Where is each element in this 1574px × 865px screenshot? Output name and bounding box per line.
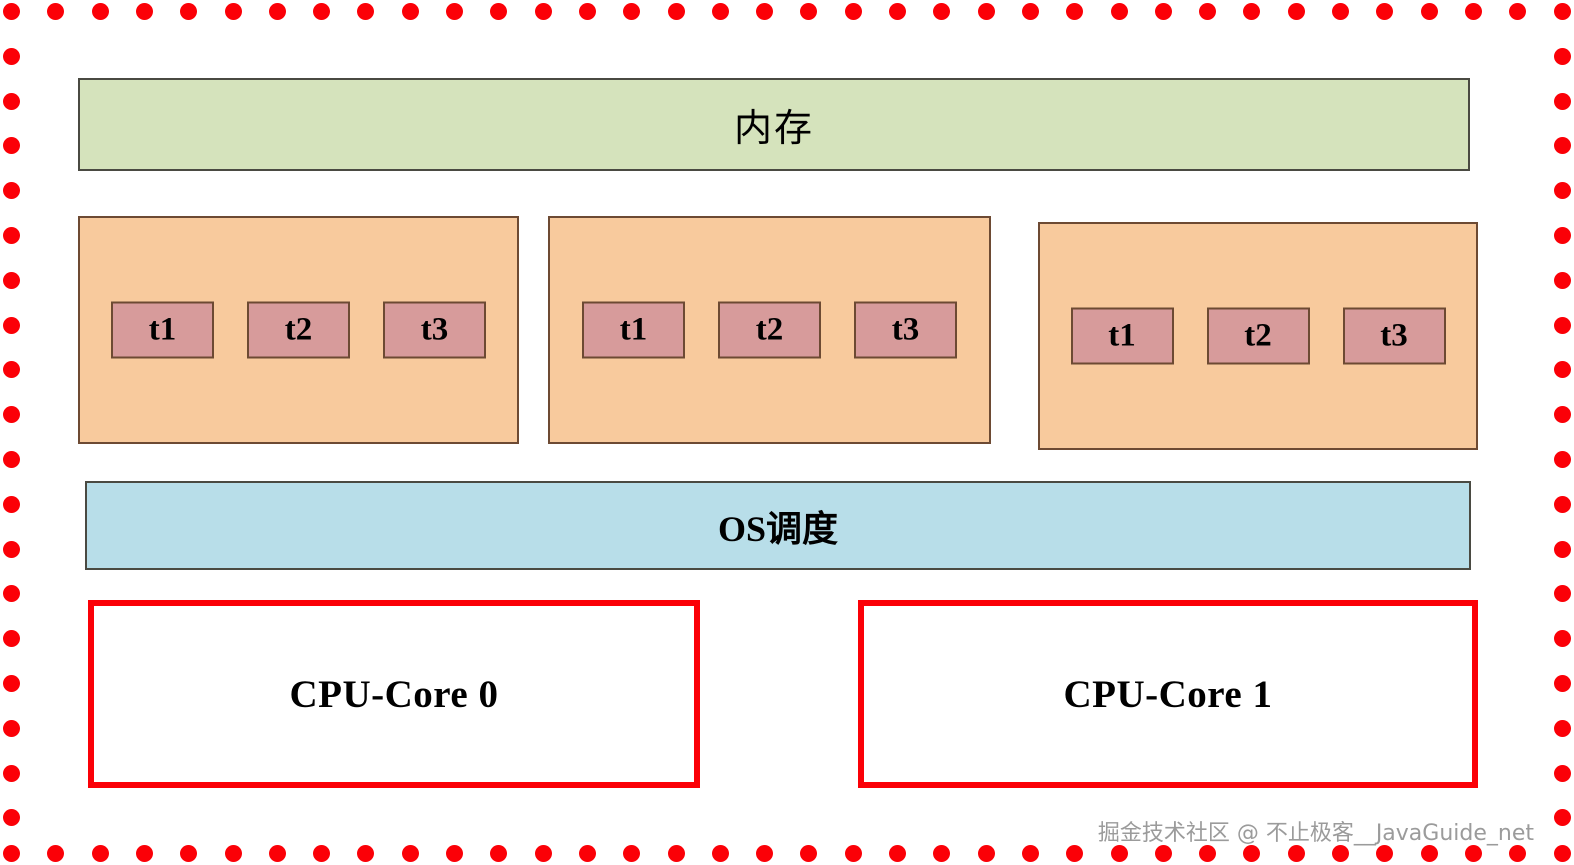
frame-dot [3,451,20,468]
frame-dot [1509,3,1526,20]
frame-dot [1554,451,1571,468]
frame-dot [3,361,20,378]
frame-dot [136,845,153,862]
frame-dot [47,845,64,862]
frame-dot [1554,765,1571,782]
frame-dot [1554,809,1571,826]
watermark-text: 掘金技术社区 @ 不止极客__JavaGuide_net [1098,815,1534,847]
frame-dot [978,3,995,20]
thread-box: t1 [111,302,214,359]
frame-dot [1554,630,1571,647]
frame-dot [800,3,817,20]
frame-dot [225,845,242,862]
frame-dot [1022,3,1039,20]
diagram-canvas: 内存 t1 t2 t3 t1 t2 t3 t1 t2 t3 OS调度 CPU-C… [0,0,1574,865]
frame-dot [933,845,950,862]
frame-dot [92,3,109,20]
frame-dot [490,3,507,20]
frame-dot [3,630,20,647]
frame-dot [3,182,20,199]
frame-dot [1554,3,1571,20]
frame-dot [1155,3,1172,20]
frame-dot [1554,406,1571,423]
frame-dot [1243,845,1260,862]
thread-box: t1 [582,302,685,359]
frame-dot [3,137,20,154]
thread-row-1: t1 t2 t3 [80,302,517,359]
frame-dot [446,845,463,862]
frame-dot [1376,3,1393,20]
frame-dot [889,3,906,20]
frame-dot [1111,845,1128,862]
frame-dot [1554,720,1571,737]
frame-dot [3,765,20,782]
frame-dot [845,845,862,862]
frame-dot [1421,845,1438,862]
frame-dot [1554,496,1571,513]
frame-dot [1554,182,1571,199]
frame-dot [800,845,817,862]
cpu-core-0-block: CPU-Core 0 [88,600,700,788]
frame-dot [3,227,20,244]
frame-dot [402,845,419,862]
frame-dot [535,845,552,862]
frame-dot [845,3,862,20]
thread-box: t3 [854,302,957,359]
frame-dot [535,3,552,20]
frame-dot [1554,272,1571,289]
frame-dot [180,845,197,862]
frame-dot [3,496,20,513]
frame-dot [3,585,20,602]
thread-box: t3 [383,302,486,359]
os-scheduler-block: OS调度 [85,481,1471,570]
frame-dot [1288,845,1305,862]
frame-dot [1111,3,1128,20]
frame-dot [1554,361,1571,378]
frame-dot [1243,3,1260,20]
cpu-core-1-block: CPU-Core 1 [858,600,1478,788]
frame-dot [3,93,20,110]
frame-dot [180,3,197,20]
process-block-2: t1 t2 t3 [548,216,991,444]
frame-dot [3,406,20,423]
frame-dot [1554,317,1571,334]
frame-dot [1554,137,1571,154]
frame-dot [668,3,685,20]
frame-dot [579,3,596,20]
thread-box: t2 [247,302,350,359]
memory-block: 内存 [78,78,1470,171]
frame-dot [1554,585,1571,602]
frame-dot [1554,227,1571,244]
frame-dot [1554,541,1571,558]
frame-dot [357,845,374,862]
thread-box: t3 [1343,308,1446,365]
frame-dot [3,675,20,692]
frame-dot [313,845,330,862]
thread-box: t2 [718,302,821,359]
frame-dot [3,809,20,826]
frame-dot [3,845,20,862]
frame-dot [1332,845,1349,862]
frame-dot [3,720,20,737]
frame-dot [3,48,20,65]
frame-dot [269,845,286,862]
process-block-1: t1 t2 t3 [78,216,519,444]
frame-dot [313,3,330,20]
frame-dot [1155,845,1172,862]
os-scheduler-label: OS调度 [718,500,838,552]
thread-box: t1 [1071,308,1174,365]
memory-label: 内存 [734,97,814,152]
frame-dot [668,845,685,862]
frame-dot [1066,845,1083,862]
cpu-core-0-label: CPU-Core 0 [290,672,499,717]
frame-dot [136,3,153,20]
frame-dot [3,541,20,558]
frame-dot [889,845,906,862]
frame-dot [1066,3,1083,20]
frame-dot [402,3,419,20]
frame-dot [47,3,64,20]
frame-dot [1465,845,1482,862]
frame-dot [1022,845,1039,862]
frame-dot [1509,845,1526,862]
frame-dot [579,845,596,862]
frame-dot [712,845,729,862]
frame-dot [933,3,950,20]
frame-dot [623,845,640,862]
frame-dot [446,3,463,20]
frame-dot [1332,3,1349,20]
frame-dot [1199,3,1216,20]
cpu-core-1-label: CPU-Core 1 [1064,672,1273,717]
frame-dot [3,272,20,289]
frame-dot [1554,675,1571,692]
frame-dot [3,3,20,20]
frame-dot [1288,3,1305,20]
frame-dot [1554,845,1571,862]
frame-dot [490,845,507,862]
frame-dot [756,3,773,20]
frame-dot [1554,48,1571,65]
frame-dot [623,3,640,20]
thread-row-2: t1 t2 t3 [550,302,989,359]
frame-dot [1465,3,1482,20]
frame-dot [3,317,20,334]
frame-dot [1554,93,1571,110]
frame-dot [92,845,109,862]
frame-dot [269,3,286,20]
thread-box: t2 [1207,308,1310,365]
frame-dot [978,845,995,862]
process-block-3: t1 t2 t3 [1038,222,1478,450]
frame-dot [712,3,729,20]
frame-dot [1421,3,1438,20]
thread-row-3: t1 t2 t3 [1040,308,1476,365]
frame-dot [225,3,242,20]
frame-dot [1199,845,1216,862]
frame-dot [357,3,374,20]
frame-dot [756,845,773,862]
frame-dot [1376,845,1393,862]
